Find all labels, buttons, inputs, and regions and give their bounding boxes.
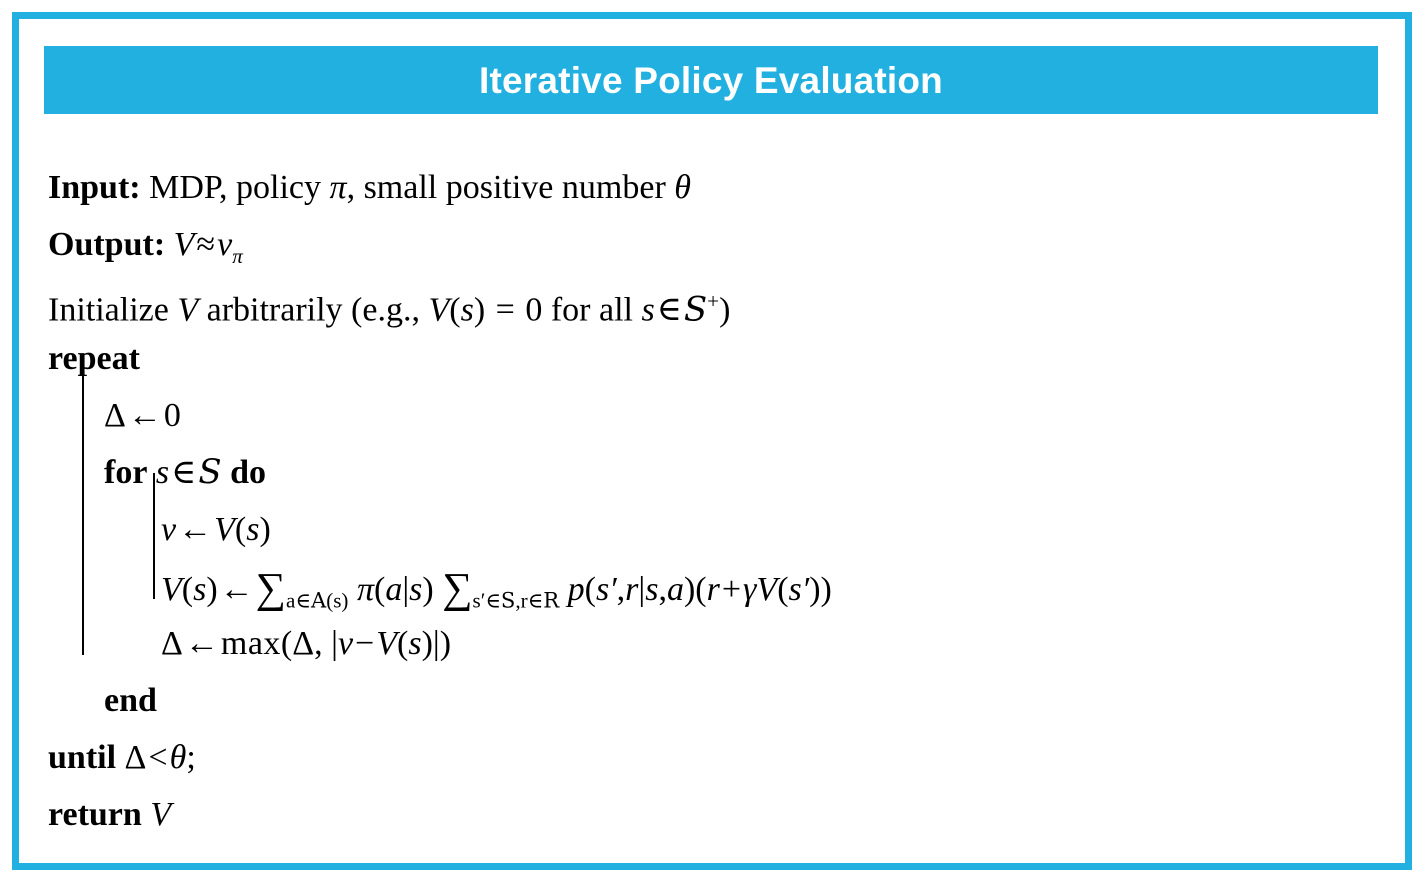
algorithm-line-for: for s∈S do: [48, 444, 1399, 501]
max-function: max: [221, 625, 281, 662]
V-function-lhs: V: [161, 571, 182, 608]
paren-close-8: ): [422, 625, 433, 662]
pi-symbol: π: [330, 169, 347, 206]
next-state-s-prime-2: s′: [789, 571, 810, 608]
paren-close-3: ): [206, 571, 217, 608]
paren-open-2: (: [235, 511, 246, 548]
arg-s-2: s: [193, 571, 206, 608]
repeat-keyword: repeat: [48, 340, 140, 377]
paren-open-3: (: [182, 571, 193, 608]
init-V-symbol: V: [177, 291, 198, 328]
algorithm-line-delta-init: Δ←0: [48, 387, 1399, 444]
paren-close-2: ): [259, 511, 270, 548]
paren-close-7: ): [821, 571, 832, 608]
assign-arrow-3: ←: [218, 571, 256, 608]
state-space-S-2: S: [198, 452, 221, 492]
reward-space-R: R: [543, 587, 559, 612]
init-V-call: V: [428, 291, 449, 328]
equals-symbol: =: [485, 291, 525, 328]
paren-close-outer: ): [719, 291, 730, 328]
action-space-A: A: [311, 587, 326, 612]
algorithm-line-initialize: Initialize V arbitrarily (e.g., V(s) = 0…: [48, 273, 1399, 330]
element-of-symbol: ∈: [655, 291, 684, 328]
zero-value: 0: [525, 291, 542, 328]
action-a: a: [385, 571, 402, 608]
paren-close-6: ): [809, 571, 820, 608]
arg-s: s: [246, 511, 259, 548]
paren-close-9: ): [440, 625, 451, 662]
algorithm-body: Input: MDP, policy π, small positive num…: [48, 159, 1399, 859]
V-function: V: [214, 511, 235, 548]
V-function-next: V: [756, 571, 777, 608]
paren-close-5: ): [684, 571, 695, 608]
assign-arrow: ←: [126, 397, 164, 434]
comma-3: ,: [314, 625, 323, 662]
delta-symbol-2: Δ: [161, 625, 183, 662]
paren-open-7: (: [777, 571, 788, 608]
assign-arrow-2: ←: [176, 511, 214, 548]
title-banner: Iterative Policy Evaluation: [44, 46, 1378, 114]
summation-symbol-transitions: ∑: [442, 565, 472, 612]
element-of-symbol-2: ∈: [169, 454, 198, 491]
state-s-3: s: [409, 571, 422, 608]
delta-symbol-4: Δ: [125, 739, 147, 776]
delta-symbol: Δ: [104, 397, 126, 434]
paren-open-9: (: [397, 625, 408, 662]
V-function-2: V: [376, 625, 397, 662]
sum-actions-subscript-b: (s): [326, 588, 348, 612]
transition-p: p: [568, 571, 585, 608]
delta-symbol-3: Δ: [292, 625, 314, 662]
summation-symbol-actions: ∑: [256, 565, 286, 612]
algorithm-line-bellman-update: V(s)←∑a∈A(s) π(a|s) ∑s′∈S,r∈R p(s′,r|s,a…: [48, 558, 1399, 615]
zero-literal: 0: [164, 397, 181, 434]
paren-close-4: ): [422, 571, 433, 608]
return-value-V: V: [150, 796, 171, 833]
state-space-S: S: [684, 289, 707, 329]
paren-open-6: (: [695, 571, 706, 608]
theta-symbol-2: θ: [170, 739, 187, 776]
paren-open-5: (: [585, 571, 596, 608]
algorithm-line-output: Output: V≈vπ: [48, 216, 1399, 273]
algorithm-line-return: return V: [48, 786, 1399, 843]
comma-2: ,: [658, 571, 667, 608]
loop-var-s: s: [156, 454, 169, 491]
paren-close: ): [474, 291, 485, 328]
algorithm-line-end: end: [48, 672, 1399, 729]
state-s-4: s: [645, 571, 658, 608]
temp-v: v: [161, 511, 176, 548]
policy-pi: π: [357, 571, 374, 608]
do-keyword: do: [230, 454, 266, 491]
paren-open: (: [449, 291, 460, 328]
input-text-b: , small positive number: [347, 169, 675, 206]
minus-symbol: −: [353, 625, 376, 662]
reward-r: r: [625, 571, 638, 608]
plus-symbol: +: [720, 571, 743, 608]
algorithm-line-input: Input: MDP, policy π, small positive num…: [48, 159, 1399, 216]
theta-symbol: θ: [674, 169, 691, 206]
algorithm-line-repeat: repeat: [48, 330, 1399, 387]
v-pi-subscript: π: [232, 244, 243, 268]
abs-bar-close: |: [433, 625, 440, 662]
reward-r-2: r: [707, 571, 720, 608]
initialize-text-c: for all: [542, 291, 641, 328]
input-keyword: Input:: [48, 169, 141, 206]
approx-symbol: ≈: [194, 226, 217, 263]
until-keyword: until: [48, 739, 116, 776]
next-state-s-prime: s′: [596, 571, 617, 608]
paren-open-8: (: [281, 625, 292, 662]
return-keyword: return: [48, 796, 142, 833]
state-s: s: [461, 291, 474, 328]
discount-gamma: γ: [743, 571, 756, 608]
algorithm-line-until: until Δ<θ;: [48, 729, 1399, 786]
temp-v-2: v: [338, 625, 353, 662]
state-s-2: s: [641, 291, 654, 328]
value-function-V: V: [174, 226, 195, 263]
v-pi-symbol: v: [217, 226, 232, 263]
algorithm-line-v-assign: v←V(s): [48, 501, 1399, 558]
page-title: Iterative Policy Evaluation: [479, 62, 943, 99]
less-than-symbol: <: [146, 739, 169, 776]
abs-bar-open: |: [331, 625, 338, 662]
state-space-S-3: S: [501, 587, 515, 612]
sum-trans-subscript-b: ,r∈: [515, 588, 543, 612]
comma-1: ,: [617, 571, 626, 608]
assign-arrow-4: ←: [183, 625, 221, 662]
input-text-a: MDP, policy: [149, 169, 329, 206]
state-s-5: s: [408, 625, 421, 662]
algorithm-card: Iterative Policy Evaluation Input: MDP, …: [12, 12, 1412, 870]
sum-trans-subscript-a: s′∈: [473, 588, 501, 612]
sum-actions-subscript-a: a∈: [286, 588, 311, 612]
end-keyword: end: [104, 682, 157, 719]
semicolon: ;: [186, 739, 195, 776]
action-a-2: a: [667, 571, 684, 608]
algorithm-line-delta-max: Δ←max(Δ, |v−V(s)|): [48, 615, 1399, 672]
initialize-text-a: Initialize: [48, 291, 177, 328]
output-keyword: Output:: [48, 226, 165, 263]
for-keyword: for: [104, 454, 147, 491]
initialize-text-b: arbitrarily (e.g.,: [198, 291, 428, 328]
plus-superscript: +: [707, 289, 719, 313]
paren-open-4: (: [374, 571, 385, 608]
